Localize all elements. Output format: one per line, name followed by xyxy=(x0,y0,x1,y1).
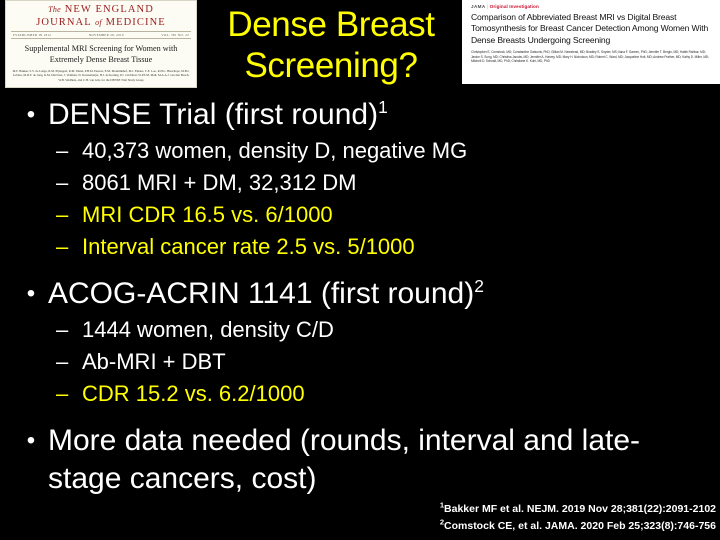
dash-marker-icon: – xyxy=(56,232,82,262)
sub-bullet-dense-cdr-label: MRI CDR 16.5 vs. 6/1000 xyxy=(82,200,706,230)
nejm-masthead-line-2: JOURNAL of MEDICINE xyxy=(11,16,191,29)
bullet-marker-icon: • xyxy=(14,422,48,460)
sub-bullet-acrin-cdr: – CDR 15.2 vs. 6.2/1000 xyxy=(56,379,706,409)
sub-bullet-dense-population: – 40,373 women, density D, negative MG xyxy=(56,136,706,166)
dash-marker-icon: – xyxy=(56,136,82,166)
reference-text: Bakker MF et al. NEJM. 2019 Nov 28;381(2… xyxy=(444,503,716,515)
dash-marker-icon: – xyxy=(56,200,82,230)
references-footer: 1Bakker MF et al. NEJM. 2019 Nov 28;381(… xyxy=(440,501,716,535)
jama-journal-name: JAMA xyxy=(471,4,486,9)
nejm-issue-date: NOVEMBER 28, 2019 xyxy=(89,33,124,37)
nejm-masthead-of: of xyxy=(95,18,102,27)
slide-title: Dense Breast Screening? xyxy=(196,4,466,86)
nejm-volume: VOL. 381 NO. 22 xyxy=(161,33,189,37)
nejm-masthead-journal: JOURNAL xyxy=(36,17,91,28)
bullet-marker-icon: • xyxy=(14,96,48,134)
group-spacer xyxy=(14,411,706,422)
bullet-dense-trial-text: DENSE Trial (first round) xyxy=(48,98,378,131)
nejm-divider-bottom xyxy=(11,38,191,39)
sub-bullet-acrin-modalities-label: Ab-MRI + DBT xyxy=(82,347,706,377)
bullet-dense-trial: • DENSE Trial (first round)1 xyxy=(14,96,706,134)
nejm-masthead-new-england: NEW ENGLAND xyxy=(65,4,154,15)
reference-text: Comstock CE, et al. JAMA. 2020 Feb 25;32… xyxy=(444,520,716,532)
reference-item: 2Comstock CE, et al. JAMA. 2020 Feb 25;3… xyxy=(440,518,716,535)
sub-bullet-acrin-population-label: 1444 women, density C/D xyxy=(82,315,706,345)
nejm-article-thumbnail[interactable]: The NEW ENGLAND JOURNAL of MEDICINE ESTA… xyxy=(5,0,197,88)
dash-marker-icon: – xyxy=(56,347,82,377)
sub-bullet-acrin-population: – 1444 women, density C/D xyxy=(56,315,706,345)
dash-marker-icon: – xyxy=(56,379,82,409)
jama-article-thumbnail[interactable]: JAMA | Original Investigation Comparison… xyxy=(462,0,720,84)
nejm-issue-line: ESTABLISHED IN 1812 NOVEMBER 28, 2019 VO… xyxy=(11,33,191,37)
sub-bullet-acrin-modalities: – Ab-MRI + DBT xyxy=(56,347,706,377)
jama-author-list: Christopher E. Comstock, MD; Constantine… xyxy=(471,50,712,64)
nejm-masthead-the: The xyxy=(48,5,61,14)
sub-bullet-acrin-cdr-label: CDR 15.2 vs. 6.2/1000 xyxy=(82,379,706,409)
bullet-marker-icon: • xyxy=(14,275,48,313)
sub-bullet-dense-cdr: – MRI CDR 16.5 vs. 6/1000 xyxy=(56,200,706,230)
nejm-masthead-line-1: The NEW ENGLAND xyxy=(11,4,191,16)
jama-article-type: Original Investigation xyxy=(490,4,539,9)
nejm-masthead-medicine: MEDICINE xyxy=(106,17,166,28)
sub-bullet-dense-population-label: 40,373 women, density D, negative MG xyxy=(82,136,706,166)
nejm-established: ESTABLISHED IN 1812 xyxy=(13,33,51,37)
nejm-author-list: M.F. Bakker, S.V. de Lange, R.M. Pijnapp… xyxy=(11,69,191,82)
jama-article-title: Comparison of Abbreviated Breast MRI vs … xyxy=(471,12,712,46)
nejm-divider-top xyxy=(11,31,191,32)
dash-marker-icon: – xyxy=(56,315,82,345)
bullet-acog-acrin-text: ACOG-ACRIN 1141 (first round) xyxy=(48,277,474,310)
bullet-acog-acrin: • ACOG-ACRIN 1141 (first round)2 xyxy=(14,275,706,313)
slide-root: { "slide": { "title": "Dense Breast Scre… xyxy=(0,0,720,540)
sub-bullet-dense-interval-cancer: – Interval cancer rate 2.5 vs. 5/1000 xyxy=(56,232,706,262)
dash-marker-icon: – xyxy=(56,168,82,198)
bullet-more-data-needed: • More data needed (rounds, interval and… xyxy=(14,422,706,498)
jama-kicker-separator: | xyxy=(487,4,488,9)
nejm-article-title: Supplemental MRI Screening for Women wit… xyxy=(11,44,191,65)
sub-bullet-dense-arms: – 8061 MRI + DM, 32,312 DM xyxy=(56,168,706,198)
group-spacer xyxy=(14,264,706,275)
bullet-more-data-needed-label: More data needed (rounds, interval and l… xyxy=(48,422,706,498)
bullet-acog-acrin-superscript: 2 xyxy=(474,276,484,296)
sub-bullet-dense-interval-cancer-label: Interval cancer rate 2.5 vs. 5/1000 xyxy=(82,232,706,262)
bullet-dense-trial-superscript: 1 xyxy=(378,97,388,117)
nejm-masthead: The NEW ENGLAND JOURNAL of MEDICINE xyxy=(11,4,191,29)
slide-body: • DENSE Trial (first round)1 – 40,373 wo… xyxy=(14,96,706,500)
bullet-dense-trial-label: DENSE Trial (first round)1 xyxy=(48,96,706,134)
sub-bullet-dense-arms-label: 8061 MRI + DM, 32,312 DM xyxy=(82,168,706,198)
bullet-acog-acrin-label: ACOG-ACRIN 1141 (first round)2 xyxy=(48,275,706,313)
reference-item: 1Bakker MF et al. NEJM. 2019 Nov 28;381(… xyxy=(440,501,716,518)
jama-kicker: JAMA | Original Investigation xyxy=(471,4,712,10)
